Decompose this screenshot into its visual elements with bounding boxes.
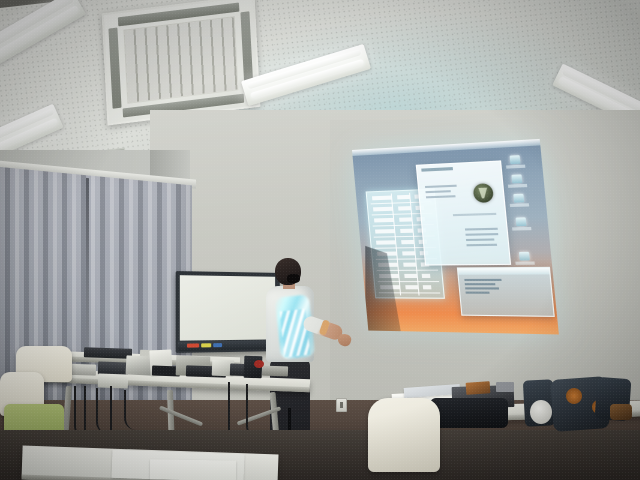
blue-marker-icon[interactable]: [213, 343, 222, 347]
equipment-orange-joint: [566, 388, 582, 404]
document-text-line: [453, 213, 496, 216]
yellow-marker-icon[interactable]: [201, 343, 211, 347]
red-marker-icon[interactable]: [187, 343, 199, 347]
document-text-line: [465, 233, 498, 236]
equipment-connector: [262, 366, 288, 377]
document-text-line: [426, 195, 456, 198]
equipment-metal-part: [496, 382, 514, 392]
desktop-icon-5[interactable]: [519, 252, 530, 261]
desktop-icon-4[interactable]: [516, 217, 527, 226]
document-text-line: [465, 228, 498, 231]
dialog-text-line: [464, 279, 501, 281]
dialog-text-line: [465, 283, 496, 285]
dialog-text-line: [466, 292, 490, 294]
projected-document-window[interactable]: [416, 160, 511, 265]
document-text-line: [466, 244, 497, 247]
desktop-icon-2[interactable]: [511, 174, 522, 183]
photo-scene: [0, 0, 640, 480]
document-seal-icon: [473, 183, 494, 203]
equipment-keyboard: [84, 347, 132, 359]
hanging-cable: [96, 388, 110, 434]
dialog-text-line: [465, 287, 499, 289]
projected-dialog-window[interactable]: [457, 267, 555, 317]
document-text-line: [425, 185, 457, 188]
curtain-panel-gap: [86, 178, 89, 368]
ac-filter-panel: [123, 16, 238, 104]
ceiling-ac-unit: [102, 0, 261, 125]
document-title-bar: [421, 167, 453, 172]
equipment-copper-part: [466, 381, 491, 395]
desktop-icon-3[interactable]: [513, 194, 524, 203]
desktop-icon-1[interactable]: [510, 155, 521, 164]
ac-vent-left: [108, 28, 121, 109]
dialog-title-bar: [458, 268, 550, 275]
document-text-line: [425, 190, 450, 193]
equipment-white-sphere: [530, 400, 552, 424]
equipment-laptop: [126, 355, 153, 375]
projected-desktop: [352, 139, 559, 335]
equipment-dark-cloth: [430, 398, 508, 428]
chair-cream-right[interactable]: [368, 398, 440, 472]
document-text-line: [466, 238, 494, 241]
presenter-hair-tie: [287, 274, 300, 283]
equipment-red-indicator: [254, 360, 264, 368]
equipment-connector-block: [610, 404, 632, 420]
paper-on-foreground-table[interactable]: [150, 459, 236, 480]
hanging-cable: [124, 390, 136, 430]
projector-light-stripes: [280, 309, 311, 357]
